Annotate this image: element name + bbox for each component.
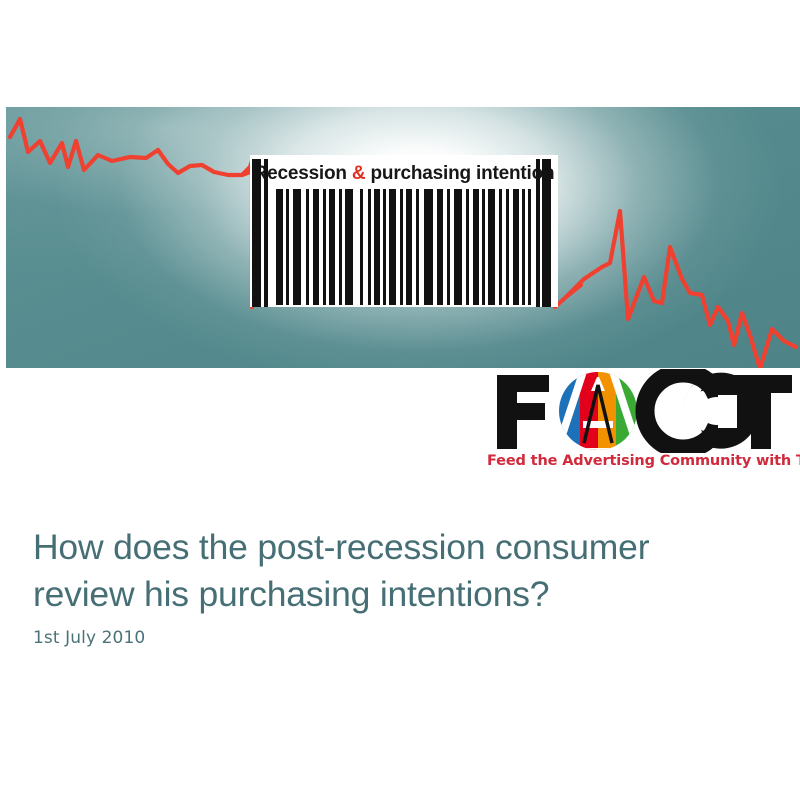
barcode-caption: Recession & purchasing intention: [250, 161, 558, 187]
barcode-bars: [250, 189, 558, 305]
trend-line-left: [10, 119, 250, 175]
page-title-line-2: review his purchasing intentions?: [33, 571, 763, 618]
barcode-guard-right-thin: [536, 159, 540, 307]
logo-letter-a-mark: [551, 369, 645, 453]
hero-banner: Recession & purchasing intention: [6, 107, 800, 368]
barcode-caption-ampersand: &: [352, 163, 366, 184]
fact-logo: Feed the Advertising Community with Tren…: [487, 369, 800, 479]
barcode: Recession & purchasing intention: [250, 155, 558, 307]
trend-line-right: [566, 211, 796, 368]
barcode-caption-suffix: purchasing intention: [365, 163, 554, 184]
page-title: How does the post-recession consumer rev…: [33, 524, 763, 618]
barcode-guard-left: [252, 159, 261, 307]
barcode-guard-left-thin: [264, 159, 268, 307]
publication-date: 1st July 2010: [33, 628, 145, 648]
barcode-caption-prefix: Recession: [254, 163, 352, 184]
fact-logo-mark: [487, 369, 800, 453]
logo-letter-f: [497, 375, 549, 449]
page-title-line-1: How does the post-recession consumer: [33, 524, 763, 571]
fact-logo-tagline: Feed the Advertising Community with Tren…: [487, 453, 794, 469]
barcode-guard-right: [542, 159, 551, 307]
title-slide: Recession & purchasing intention: [0, 0, 800, 800]
